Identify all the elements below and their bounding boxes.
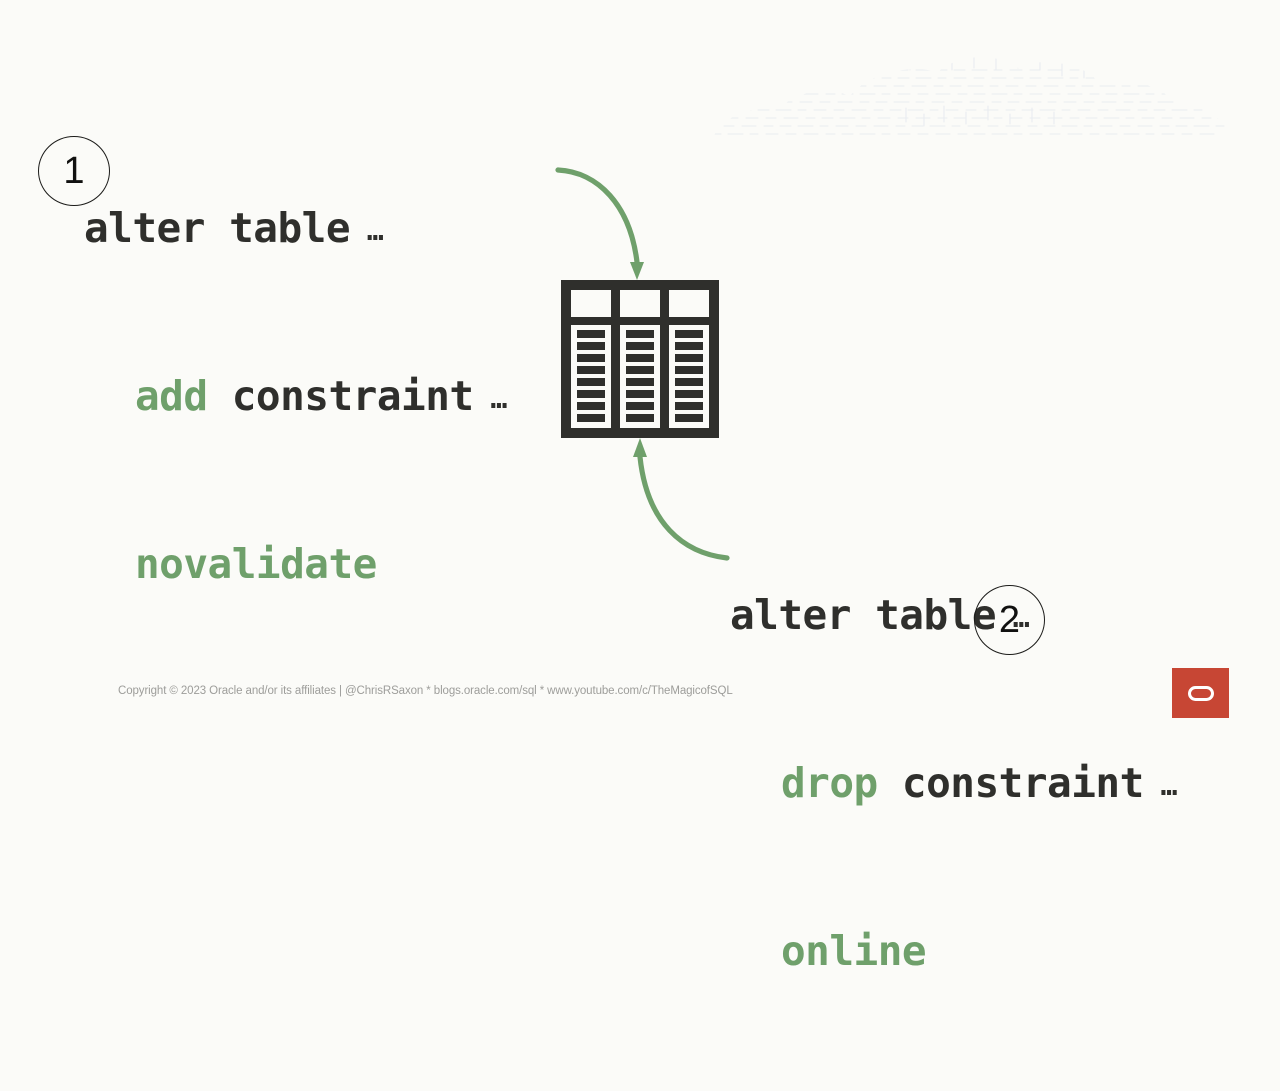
code-token-ellipsis: … bbox=[1144, 769, 1178, 802]
code-token-online: online bbox=[781, 927, 926, 975]
code-line-2: add constraint … bbox=[84, 368, 507, 424]
code-line-1: alter table … bbox=[84, 200, 507, 256]
code-token-drop: drop bbox=[781, 759, 878, 807]
code-token-ellipsis: … bbox=[350, 214, 384, 247]
database-table-icon bbox=[561, 280, 719, 438]
step-marker-1-label: 1 bbox=[63, 150, 84, 193]
cloud-texture-decoration bbox=[700, 48, 1240, 160]
code-token-constraint: constraint bbox=[878, 759, 1144, 807]
code-token-alter-table: alter table bbox=[730, 591, 996, 639]
arrow-add-to-table bbox=[540, 150, 670, 300]
code-line-3: novalidate bbox=[84, 536, 507, 592]
code-token-novalidate: novalidate bbox=[135, 540, 377, 588]
code-line-3: online bbox=[730, 923, 1178, 979]
step-marker-2-label: 2 bbox=[999, 599, 1020, 642]
footer-copyright: Copyright © 2023 Oracle and/or its affil… bbox=[118, 685, 733, 697]
code-token-ellipsis: … bbox=[474, 382, 508, 415]
code-token-alter-table: alter table bbox=[84, 204, 350, 252]
step-marker-2: 2 bbox=[974, 585, 1045, 655]
sql-add-constraint-novalidate: alter table … add constraint … novalidat… bbox=[84, 88, 507, 704]
code-line-2: drop constraint … bbox=[730, 755, 1178, 811]
code-line-1: alter table … bbox=[730, 587, 1178, 643]
sql-drop-constraint-online: alter table … drop constraint … online bbox=[730, 475, 1178, 1091]
code-token-constraint: constraint bbox=[208, 372, 474, 420]
oracle-logo bbox=[1172, 668, 1229, 718]
slide-canvas: 1 alter table … add constraint … novalid… bbox=[0, 0, 1280, 720]
oracle-logo-ring bbox=[1188, 686, 1214, 701]
code-token-add: add bbox=[135, 372, 208, 420]
